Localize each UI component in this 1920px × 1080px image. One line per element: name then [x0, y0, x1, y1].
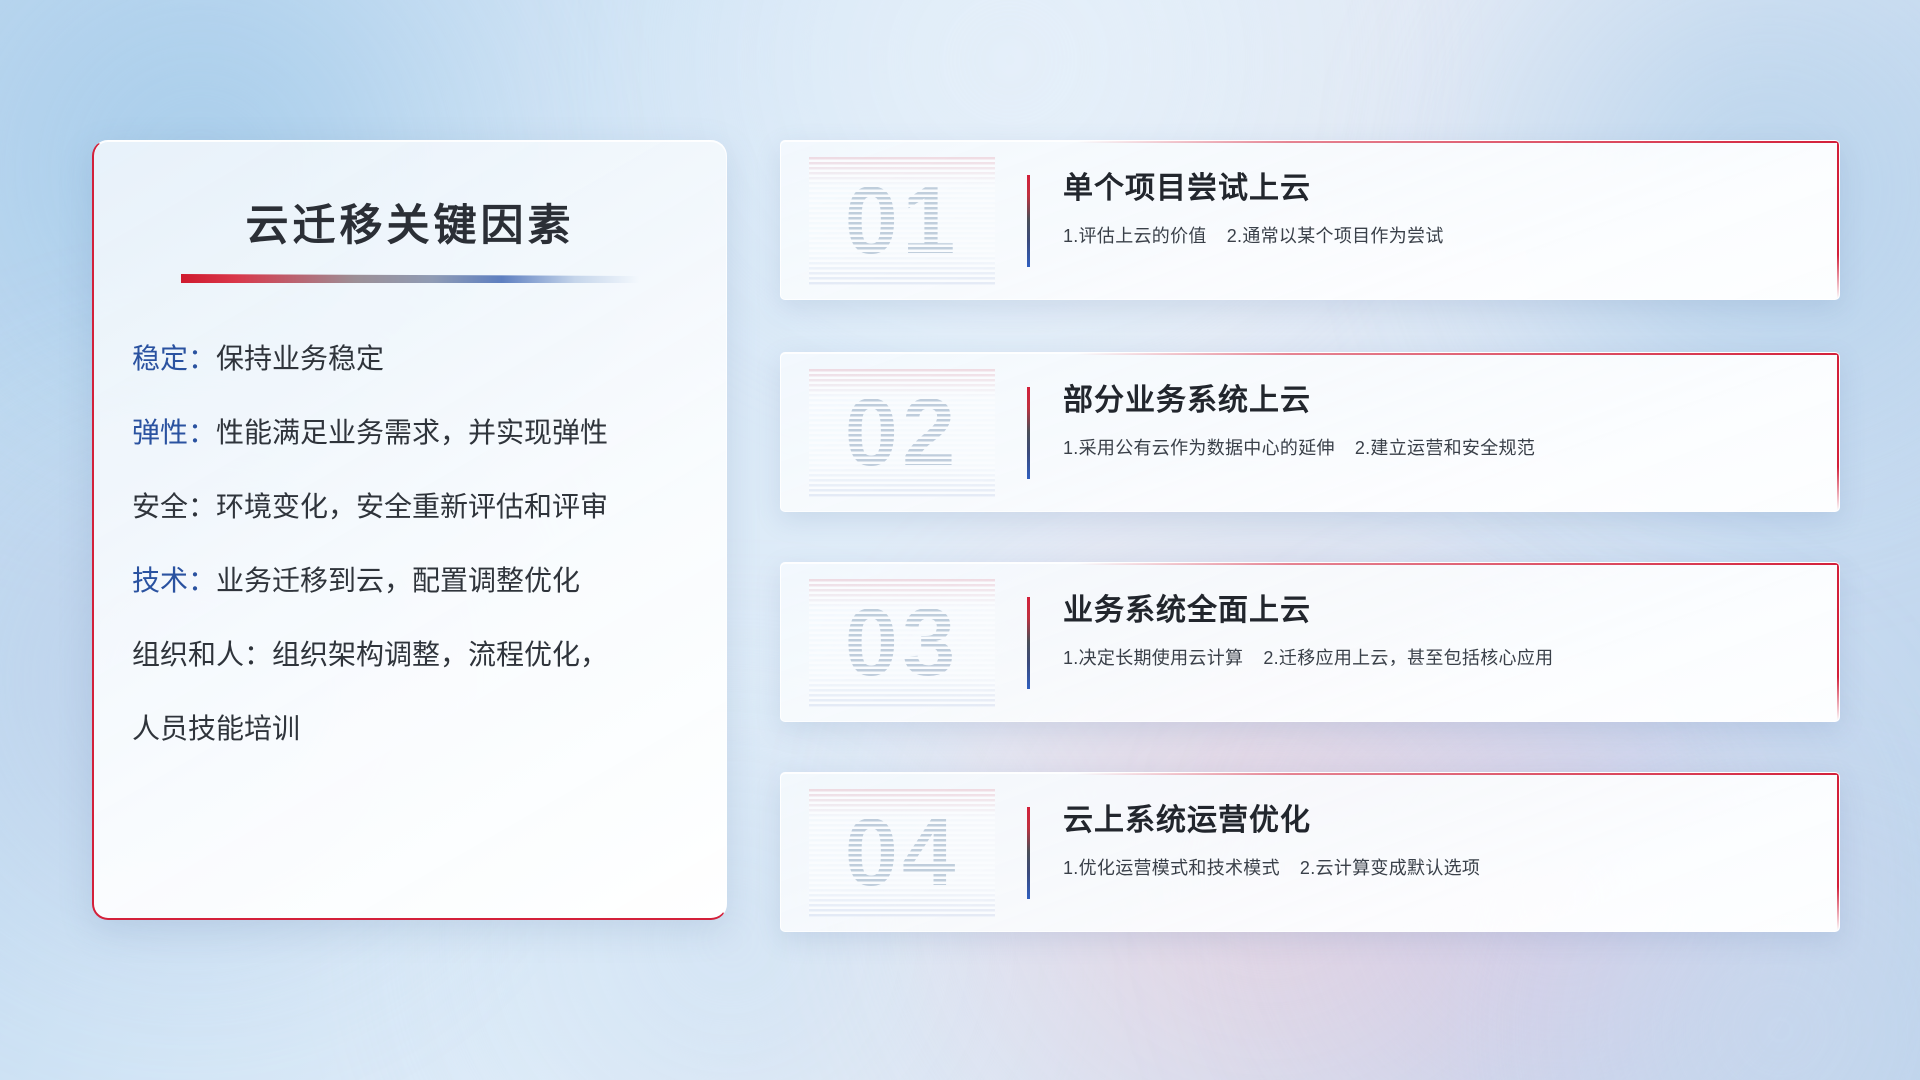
list-item: 安全：环境变化，安全重新评估和评审	[132, 493, 726, 521]
stage-card-01[interactable]: 01 单个项目尝试上云 1.评估上云的价值2.通常以某个项目作为尝试	[780, 140, 1840, 300]
card-body: 单个项目尝试上云 1.评估上云的价值2.通常以某个项目作为尝试	[1063, 171, 1799, 248]
card-top-accent	[1077, 773, 1839, 775]
card-title: 部分业务系统上云	[1063, 383, 1799, 419]
card-point-2: 2.迁移应用上云，甚至包括核心应用	[1263, 648, 1553, 668]
card-divider	[1027, 597, 1030, 689]
list-item-text: 保持业务稳定	[216, 343, 384, 374]
card-title: 单个项目尝试上云	[1063, 171, 1799, 207]
card-side-accent	[1837, 563, 1839, 721]
card-divider	[1027, 387, 1030, 479]
list-item-label: 稳定：	[132, 343, 216, 374]
page-title: 云迁移关键因素	[94, 191, 726, 253]
card-subtitle: 1.采用公有云作为数据中心的延伸2.建立运营和安全规范	[1063, 437, 1799, 460]
list-item-label: 弹性：	[132, 417, 216, 448]
card-point-2: 2.通常以某个项目作为尝试	[1227, 226, 1444, 246]
card-point-1: 1.优化运营模式和技术模式	[1063, 858, 1280, 878]
card-title: 业务系统全面上云	[1063, 593, 1799, 629]
card-subtitle: 1.决定长期使用云计算2.迁移应用上云，甚至包括核心应用	[1063, 647, 1799, 670]
list-item-text: 人员技能培训	[132, 713, 300, 744]
list-item: 技术：业务迁移到云，配置调整优化	[132, 567, 726, 595]
slide-stage: 云迁移关键因素 稳定：保持业务稳定 弹性：性能满足业务需求，并实现弹性 安全：环…	[0, 0, 1920, 1080]
stage-card-03[interactable]: 03 业务系统全面上云 1.决定长期使用云计算2.迁移应用上云，甚至包括核心应用	[780, 562, 1840, 722]
list-item-label: 技术：	[132, 565, 216, 596]
card-point-2: 2.云计算变成默认选项	[1300, 858, 1480, 878]
list-item-label: 安全：	[132, 491, 216, 522]
list-item-label: 组织和人：	[132, 639, 272, 670]
list-item: 弹性：性能满足业务需求，并实现弹性	[132, 419, 726, 447]
stage-card-02[interactable]: 02 部分业务系统上云 1.采用公有云作为数据中心的延伸2.建立运营和安全规范	[780, 352, 1840, 512]
card-number-badge: 03	[809, 579, 995, 707]
card-number-text: 04	[809, 789, 995, 917]
card-point-1: 1.采用公有云作为数据中心的延伸	[1063, 438, 1335, 458]
card-side-accent	[1837, 773, 1839, 931]
list-item-text: 组织架构调整，流程优化，	[272, 639, 608, 670]
list-item-text: 环境变化，安全重新评估和评审	[216, 491, 608, 522]
card-point-1: 1.评估上云的价值	[1063, 226, 1207, 246]
card-number-text: 01	[809, 157, 995, 285]
card-body: 部分业务系统上云 1.采用公有云作为数据中心的延伸2.建立运营和安全规范	[1063, 383, 1799, 460]
card-body: 业务系统全面上云 1.决定长期使用云计算2.迁移应用上云，甚至包括核心应用	[1063, 593, 1799, 670]
card-title: 云上系统运营优化	[1063, 803, 1799, 839]
card-subtitle: 1.评估上云的价值2.通常以某个项目作为尝试	[1063, 225, 1799, 248]
card-number-text: 02	[809, 369, 995, 497]
key-factors-panel: 云迁移关键因素 稳定：保持业务稳定 弹性：性能满足业务需求，并实现弹性 安全：环…	[92, 140, 727, 920]
card-number-text: 03	[809, 579, 995, 707]
stage-card-04[interactable]: 04 云上系统运营优化 1.优化运营模式和技术模式2.云计算变成默认选项	[780, 772, 1840, 932]
card-divider	[1027, 807, 1030, 899]
list-item: 人员技能培训	[132, 715, 726, 743]
key-factors-list: 稳定：保持业务稳定 弹性：性能满足业务需求，并实现弹性 安全：环境变化，安全重新…	[132, 345, 726, 743]
card-top-accent	[1077, 563, 1839, 565]
card-number-badge: 02	[809, 369, 995, 497]
title-underline	[181, 274, 639, 283]
card-number-badge: 01	[809, 157, 995, 285]
card-point-1: 1.决定长期使用云计算	[1063, 648, 1243, 668]
card-side-accent	[1837, 141, 1839, 299]
card-point-2: 2.建立运营和安全规范	[1355, 438, 1535, 458]
card-divider	[1027, 175, 1030, 267]
card-top-accent	[1077, 141, 1839, 143]
card-subtitle: 1.优化运营模式和技术模式2.云计算变成默认选项	[1063, 857, 1799, 880]
list-item-text: 性能满足业务需求，并实现弹性	[216, 417, 608, 448]
card-top-accent	[1077, 353, 1839, 355]
list-item: 组织和人：组织架构调整，流程优化，	[132, 641, 726, 669]
list-item-text: 业务迁移到云，配置调整优化	[216, 565, 580, 596]
card-body: 云上系统运营优化 1.优化运营模式和技术模式2.云计算变成默认选项	[1063, 803, 1799, 880]
card-number-badge: 04	[809, 789, 995, 917]
list-item: 稳定：保持业务稳定	[132, 345, 726, 373]
card-side-accent	[1837, 353, 1839, 511]
